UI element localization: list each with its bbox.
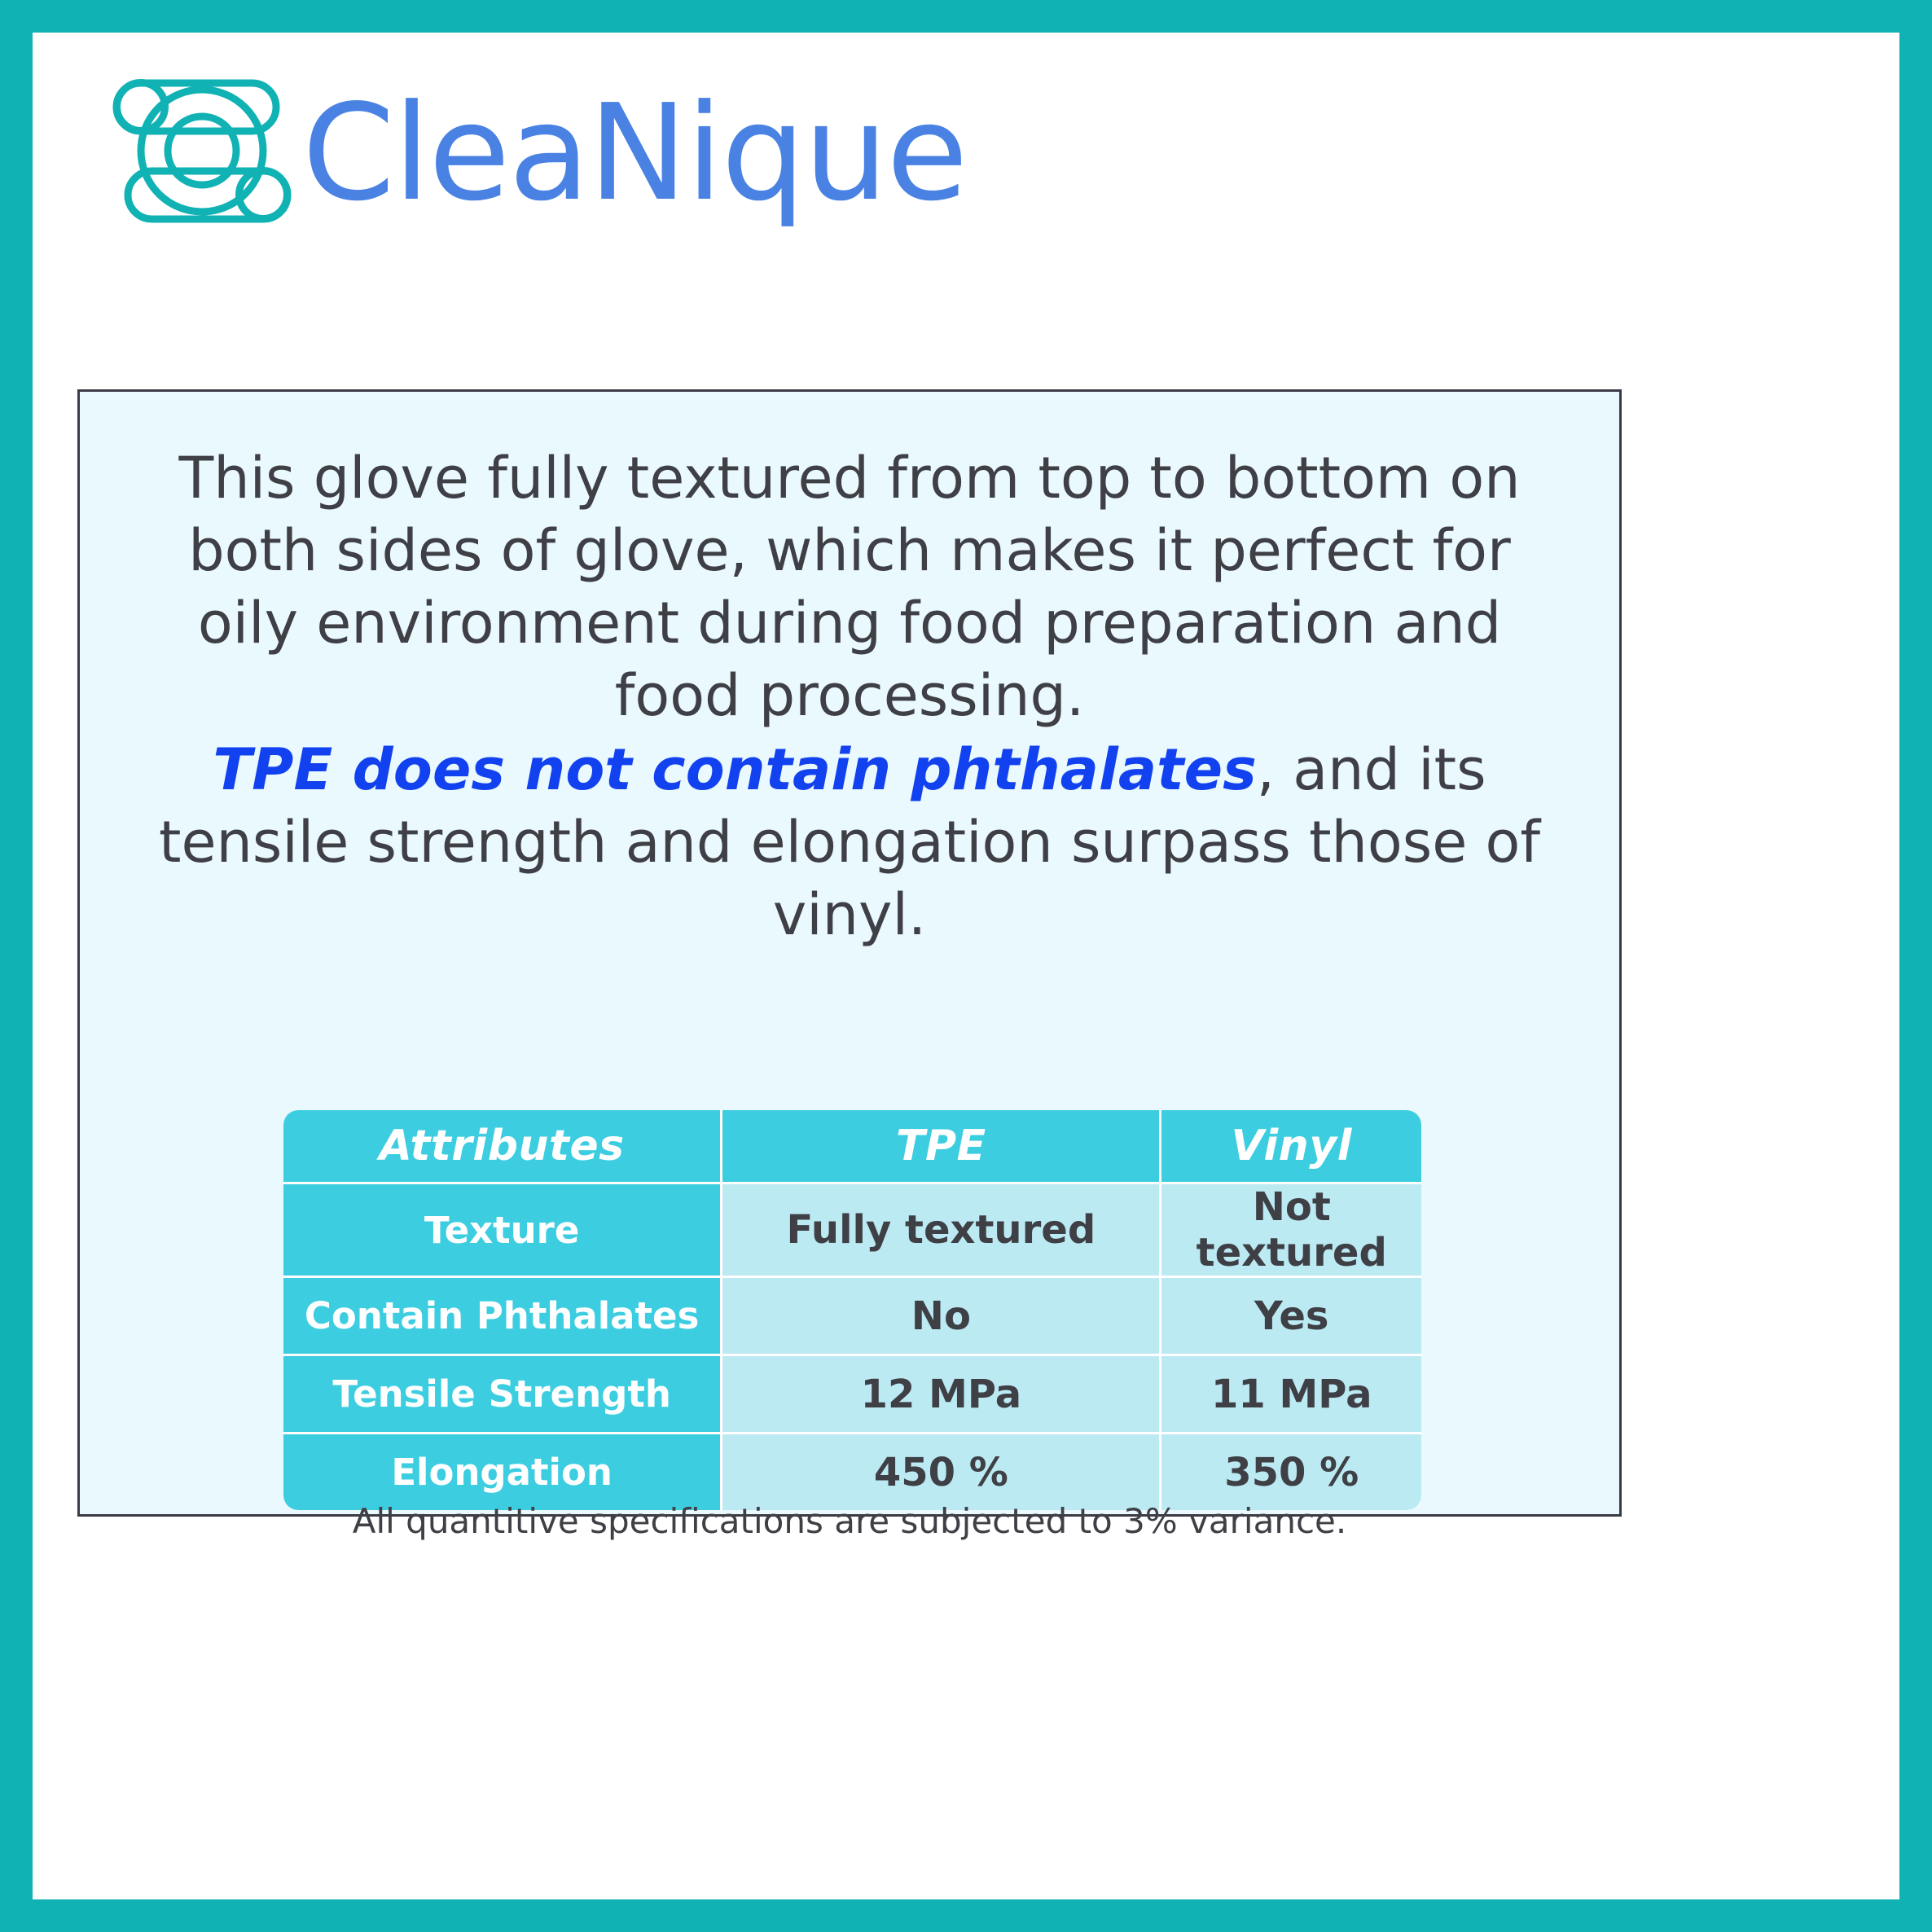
- column-header-attributes: Attributes: [283, 1110, 722, 1184]
- cell-tensile-vinyl: 11 MPa: [1161, 1356, 1421, 1434]
- specification-table: Attributes TPE Vinyl Texture Fully textu…: [283, 1110, 1421, 1510]
- table-row: Tensile Strength 12 MPa 11 MPa: [283, 1356, 1421, 1434]
- page-frame: CleaNique This glove fully textured from…: [0, 0, 1932, 1932]
- row-label-tensile-strength: Tensile Strength: [283, 1356, 722, 1434]
- variance-note: All quantitive specifications are subjec…: [80, 1501, 1619, 1541]
- row-label-contain-phthalates: Contain Phthalates: [283, 1278, 722, 1356]
- column-header-tpe: TPE: [722, 1110, 1161, 1184]
- content-panel: This glove fully textured from top to bo…: [77, 389, 1622, 1517]
- table-header-row: Attributes TPE Vinyl: [283, 1110, 1421, 1184]
- brand-logo: CleaNique: [112, 67, 967, 234]
- table-row: Contain Phthalates No Yes: [283, 1278, 1421, 1356]
- phthalates-highlight: TPE does not contain phthalates: [213, 736, 1256, 803]
- cell-phthalates-vinyl: Yes: [1161, 1278, 1421, 1356]
- cell-texture-tpe: Fully textured: [722, 1184, 1161, 1278]
- row-label-texture: Texture: [283, 1184, 722, 1278]
- row-label-elongation: Elongation: [283, 1434, 722, 1510]
- table-row: Elongation 450 % 350 %: [283, 1434, 1421, 1510]
- cell-elongation-vinyl: 350 %: [1161, 1434, 1421, 1510]
- description-paragraph-2: TPE does not contain phthalates, and its…: [80, 734, 1619, 951]
- table-row: Texture Fully textured Not textured: [283, 1184, 1421, 1278]
- cleanique-loop-mark-icon: [112, 67, 292, 234]
- cell-elongation-tpe: 450 %: [722, 1434, 1161, 1510]
- cell-phthalates-tpe: No: [722, 1278, 1161, 1356]
- description-paragraph-1: This glove fully textured from top to bo…: [80, 442, 1619, 732]
- brand-wordmark: CleaNique: [302, 87, 967, 220]
- column-header-vinyl: Vinyl: [1161, 1110, 1421, 1184]
- page-canvas: CleaNique This glove fully textured from…: [33, 33, 1899, 1899]
- cell-texture-vinyl: Not textured: [1161, 1184, 1421, 1278]
- cell-tensile-tpe: 12 MPa: [722, 1356, 1161, 1434]
